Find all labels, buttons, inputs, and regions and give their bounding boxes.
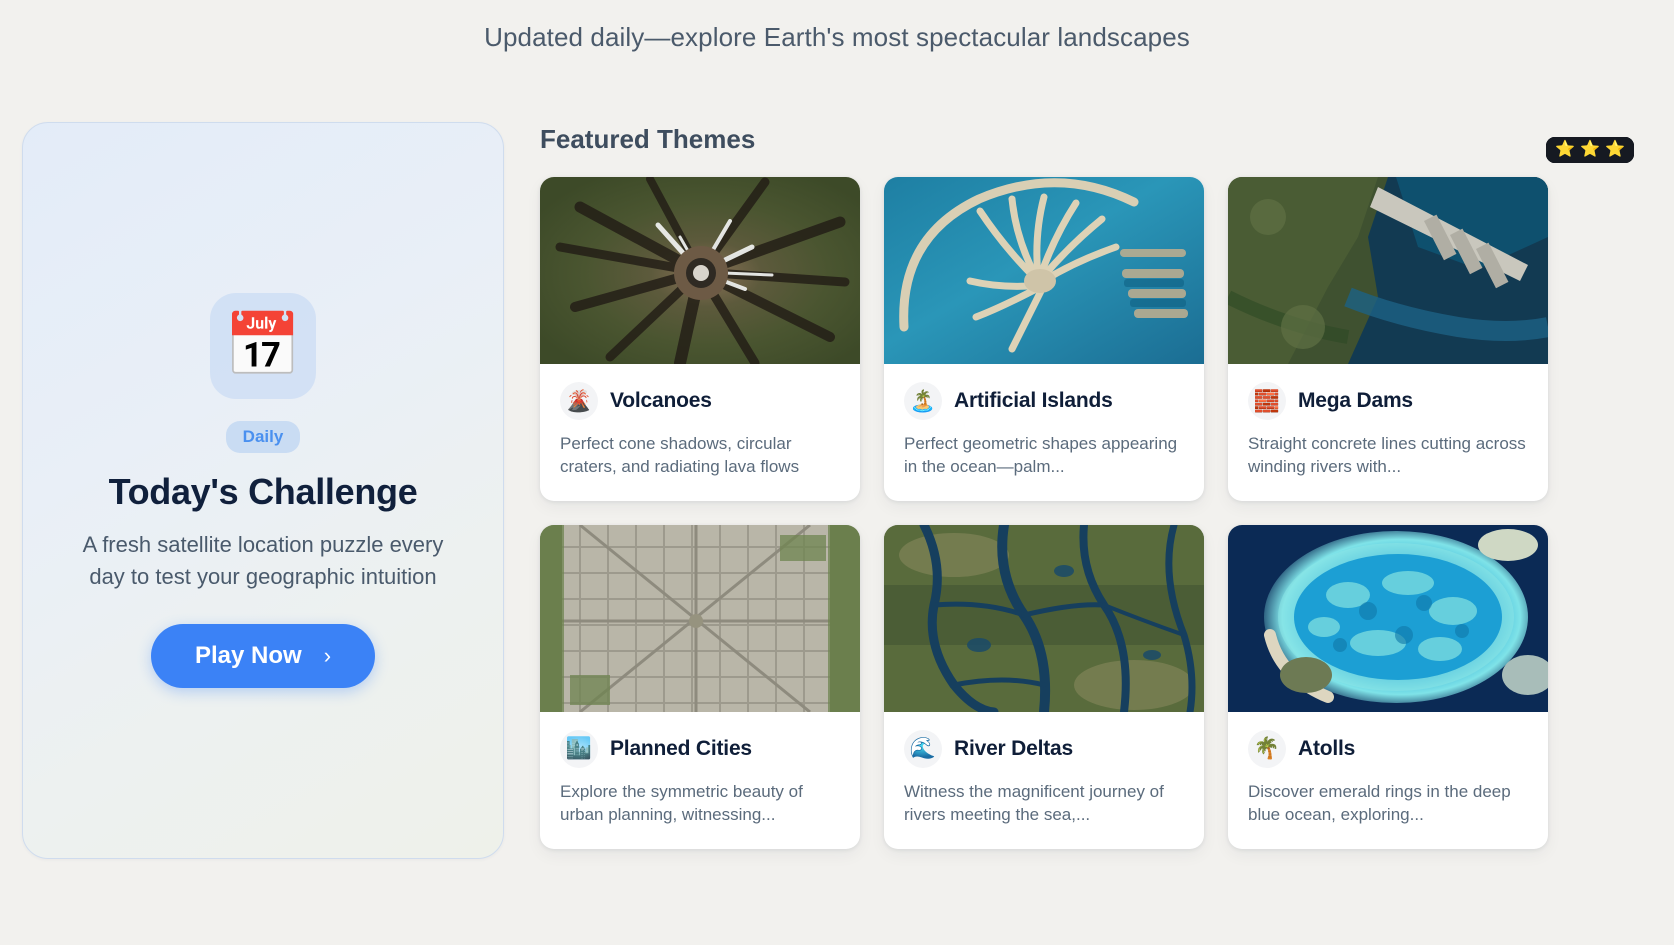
- page-title: Today's Challenge: [109, 471, 418, 513]
- wave-emoji-icon: 🌊: [904, 730, 942, 768]
- card-description: Explore the symmetric beauty of urban pl…: [560, 780, 840, 827]
- card-body: 🌊 River Deltas Witness the magnificent j…: [884, 712, 1204, 849]
- card-body: 🏙️ Planned Cities Explore the symmetric …: [540, 712, 860, 849]
- calendar-icon: 📅: [224, 315, 301, 377]
- palm-tree-emoji-icon: 🌴: [1248, 730, 1286, 768]
- card-description: Witness the magnificent journey of river…: [904, 780, 1184, 827]
- themes-grid: ⭐ ⭐ ⭐ 🌋 Volcanoes Perfect cone shadows, …: [540, 177, 1646, 849]
- theme-card-artificial-islands[interactable]: ⭐ ⭐ ⭐ 🏝️ Artificial Islands Perfect geom…: [884, 177, 1204, 501]
- card-header: 🌊 River Deltas: [904, 730, 1184, 768]
- daily-challenge-page: Updated daily—explore Earth's most spect…: [0, 0, 1674, 945]
- cityscape-emoji-icon: 🏙️: [560, 730, 598, 768]
- theme-card-river-deltas[interactable]: ⭐ ⭐ ⭐ 🌊 River Deltas Witness the magnifi…: [884, 525, 1204, 849]
- card-header: 🧱 Mega Dams: [1248, 382, 1528, 420]
- header-subtitle: Updated daily—explore Earth's most spect…: [484, 22, 1190, 53]
- card-body: 🧱 Mega Dams Straight concrete lines cutt…: [1228, 364, 1548, 501]
- page-header: Updated daily—explore Earth's most spect…: [0, 0, 1674, 74]
- river-deltas-satellite-thumbnail: [884, 525, 1204, 712]
- card-header: 🌴 Atolls: [1248, 730, 1528, 768]
- card-title: Planned Cities: [610, 737, 752, 761]
- island-emoji-icon: 🏝️: [904, 382, 942, 420]
- volcano-satellite-thumbnail: [540, 177, 860, 364]
- theme-card-volcanoes[interactable]: ⭐ ⭐ ⭐ 🌋 Volcanoes Perfect cone shadows, …: [540, 177, 860, 501]
- featured-themes-section: Featured Themes: [540, 124, 1646, 849]
- card-description: Discover emerald rings in the deep blue …: [1248, 780, 1528, 827]
- card-body: 🏝️ Artificial Islands Perfect geometric …: [884, 364, 1204, 501]
- challenge-description: A fresh satellite location puzzle every …: [77, 529, 449, 591]
- card-header: 🏝️ Artificial Islands: [904, 382, 1184, 420]
- card-header: 🌋 Volcanoes: [560, 382, 840, 420]
- chevron-right-icon: ›: [324, 643, 331, 669]
- play-now-label: Play Now: [195, 642, 302, 670]
- theme-card-atolls[interactable]: ⭐ ⭐ ⭐ 🌴 Atolls Discover emerald rings in…: [1228, 525, 1548, 849]
- brick-emoji-icon: 🧱: [1248, 382, 1286, 420]
- card-description: Straight concrete lines cutting across w…: [1248, 432, 1528, 479]
- theme-card-planned-cities[interactable]: ⭐ ⭐ ⭐ 🏙️ Planned Cities Explore the symm…: [540, 525, 860, 849]
- card-title: Mega Dams: [1298, 389, 1413, 413]
- calendar-icon-container: 📅: [210, 293, 316, 399]
- card-body: 🌋 Volcanoes Perfect cone shadows, circul…: [540, 364, 860, 501]
- planned-cities-satellite-thumbnail: [540, 525, 860, 712]
- card-description: Perfect geometric shapes appearing in th…: [904, 432, 1184, 479]
- artificial-islands-satellite-thumbnail: [884, 177, 1204, 364]
- todays-challenge-card[interactable]: 📅 Daily Today's Challenge A fresh satell…: [22, 122, 504, 859]
- card-title: Atolls: [1298, 737, 1355, 761]
- theme-card-mega-dams[interactable]: ⭐ ⭐ ⭐ 🧱 Mega Dams Straight concrete line…: [1228, 177, 1548, 501]
- daily-badge: Daily: [226, 421, 301, 453]
- card-title: River Deltas: [954, 737, 1073, 761]
- card-header: 🏙️ Planned Cities: [560, 730, 840, 768]
- mega-dams-satellite-thumbnail: [1228, 177, 1548, 364]
- atolls-satellite-thumbnail: [1228, 525, 1548, 712]
- featured-themes-heading: Featured Themes: [540, 124, 1646, 155]
- card-body: 🌴 Atolls Discover emerald rings in the d…: [1228, 712, 1548, 849]
- play-now-button[interactable]: Play Now ›: [151, 624, 375, 688]
- volcano-emoji-icon: 🌋: [560, 382, 598, 420]
- card-description: Perfect cone shadows, circular craters, …: [560, 432, 840, 479]
- card-title: Volcanoes: [610, 389, 712, 413]
- card-title: Artificial Islands: [954, 389, 1113, 413]
